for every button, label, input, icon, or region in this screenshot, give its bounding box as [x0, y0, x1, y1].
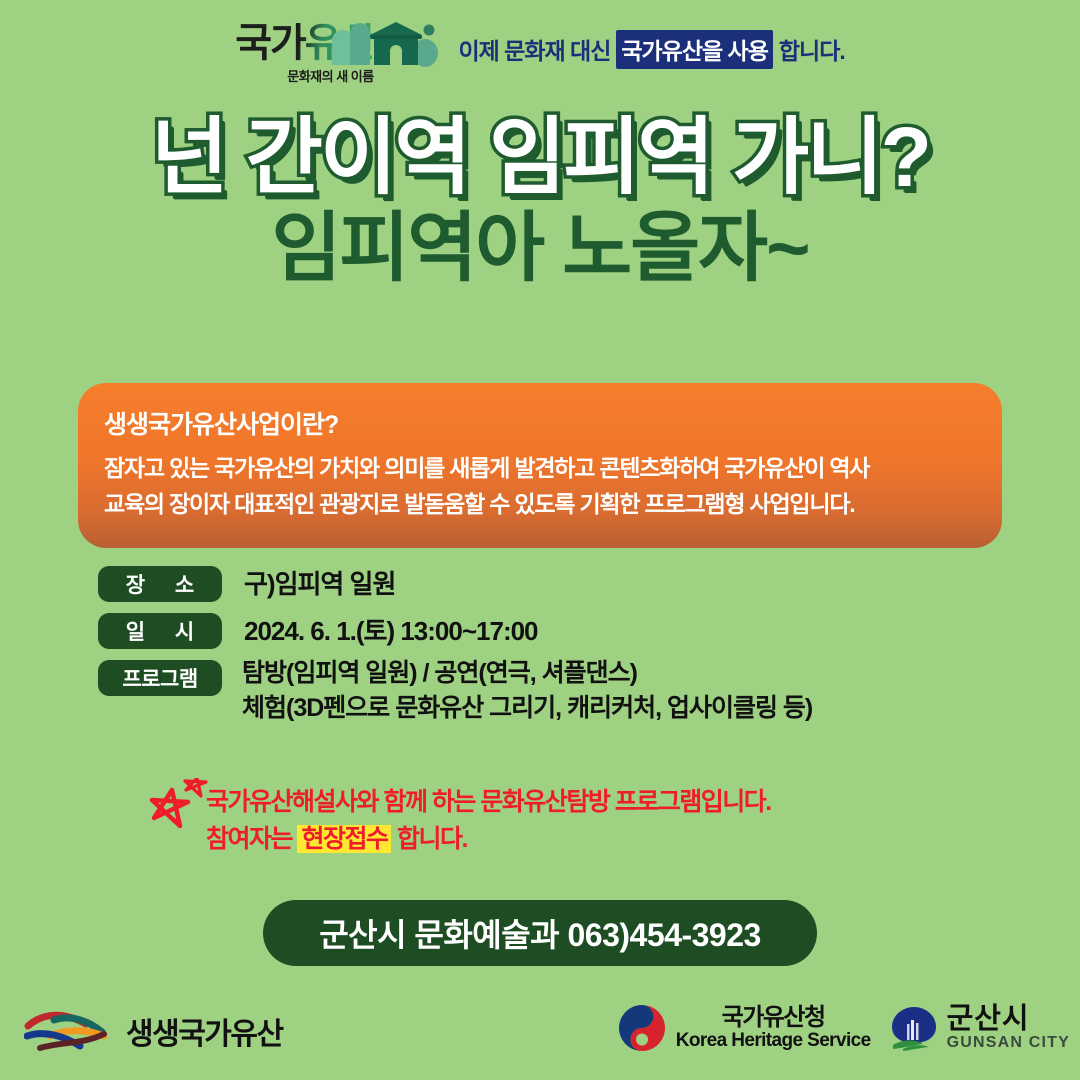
title-line-1: 넌 간이역 임피역 가니?: [0, 112, 1080, 203]
gunsan-city-icon: [889, 1004, 939, 1052]
agency-brand-khs: 국가유산청 Korea Heritage Service: [616, 1002, 871, 1054]
footer-program-brand: 생생국가유산: [24, 1004, 283, 1058]
note-block: 국가유산해설사와 함께 하는 문화유산탐방 프로그램입니다. 참여자는 현장접수…: [150, 786, 1010, 859]
note-line-2: 참여자는 현장접수 합니다.: [206, 823, 1010, 856]
description-box: 생생국가유산사업이란? 잠자고 있는 국가유산의 가치와 의미를 새롭게 발견하…: [78, 383, 1002, 548]
header-tagline: 이제 문화재 대신 국가유산을 사용 합니다.: [458, 30, 844, 69]
heritage-gate-icon: [330, 13, 448, 71]
description-heading: 생생국가유산사업이란?: [104, 405, 976, 441]
note-line2-before: 참여자는: [206, 825, 292, 853]
info-value-line: 2024. 6. 1.(토) 13:00~17:00: [244, 613, 538, 650]
note-line-1: 국가유산해설사와 함께 하는 문화유산탐방 프로그램입니다.: [206, 786, 1010, 819]
note-line2-highlight: 현장접수: [297, 825, 391, 853]
korea-heritage-logo: 국가유산 문화재의 새 이름: [235, 13, 448, 85]
info-label-place: 장 소: [98, 566, 222, 602]
footer: 생생국가유산 국가유산청 Korea Heritage Service: [0, 998, 1080, 1074]
poster-root: 국가유산 문화재의 새 이름 이제 문화재 대신 국가유산을 사용 합니: [0, 0, 1080, 1080]
agency-name-ko: 국가유산청: [676, 1005, 871, 1030]
info-value-line: 체험(3D펜으로 문화유산 그리기, 캐리커처, 업사이클링 등): [242, 691, 812, 727]
tagline-before-text: 이제 문화재 대신: [458, 32, 610, 66]
info-row-place: 장 소 구)임피역 일원: [98, 566, 1018, 603]
description-body: 잠자고 있는 국가유산의 가치와 의미를 새롭게 발견하고 콘텐츠화하여 국가유…: [104, 453, 976, 519]
agency-name-en: Korea Heritage Service: [676, 1031, 871, 1051]
info-row-datetime: 일 시 2024. 6. 1.(토) 13:00~17:00: [98, 613, 1018, 650]
info-value-program: 탐방(임피역 일원) / 공연(연극, 셔플댄스) 체험(3D펜으로 문화유산 …: [222, 656, 812, 727]
star-icon: [144, 778, 216, 840]
description-line: 교육의 장이자 대표적인 관광지로 발돋움할 수 있도록 기획한 프로그램형 사…: [104, 489, 976, 520]
title-line-2: 임피역아 노올자~: [0, 207, 1080, 291]
info-label-datetime: 일 시: [98, 613, 222, 649]
info-row-program: 프로그램 탐방(임피역 일원) / 공연(연극, 셔플댄스) 체험(3D펜으로 …: [98, 660, 1018, 727]
tagline-highlight-text: 국가유산을 사용: [616, 30, 773, 69]
note-line2-after: 합니다.: [397, 825, 467, 853]
city-text-group: 군산시 GUNSAN CITY: [947, 1005, 1070, 1051]
city-brand-gunsan: 군산시 GUNSAN CITY: [889, 1004, 1070, 1052]
info-value-line: 구)임피역 일원: [244, 566, 395, 603]
event-info-list: 장 소 구)임피역 일원 일 시 2024. 6. 1.(토) 13:00~17…: [98, 566, 1018, 737]
poster-title: 넌 간이역 임피역 가니? 임피역아 노올자~: [0, 112, 1080, 290]
info-label-program: 프로그램: [98, 660, 222, 696]
agency-text-group: 국가유산청 Korea Heritage Service: [676, 1005, 871, 1051]
taeguk-icon: [616, 1002, 668, 1054]
contact-text: 군산시 문화예술과 063)454-3923: [319, 910, 761, 956]
brand-header: 국가유산 문화재의 새 이름 이제 문화재 대신 국가유산을 사용 합니: [0, 10, 1080, 88]
city-name-en: GUNSAN CITY: [947, 1035, 1070, 1051]
contact-banner[interactable]: 군산시 문화예술과 063)454-3923: [263, 900, 817, 966]
saengsaeng-swoosh-icon: [24, 1004, 110, 1058]
info-value-place: 구)임피역 일원: [222, 566, 395, 603]
footer-agency-brands: 국가유산청 Korea Heritage Service: [616, 1002, 1070, 1054]
city-name-ko: 군산시: [947, 1005, 1070, 1035]
footer-program-label: 생생국가유산: [126, 1009, 283, 1053]
info-value-datetime: 2024. 6. 1.(토) 13:00~17:00: [222, 613, 538, 650]
tagline-after-text: 합니다.: [779, 32, 845, 66]
description-line: 잠자고 있는 국가유산의 가치와 의미를 새롭게 발견하고 콘텐츠화하여 국가유…: [104, 453, 976, 484]
note-lines: 국가유산해설사와 함께 하는 문화유산탐방 프로그램입니다. 참여자는 현장접수…: [150, 786, 1010, 855]
info-value-line: 탐방(임피역 일원) / 공연(연극, 셔플댄스): [242, 656, 812, 692]
